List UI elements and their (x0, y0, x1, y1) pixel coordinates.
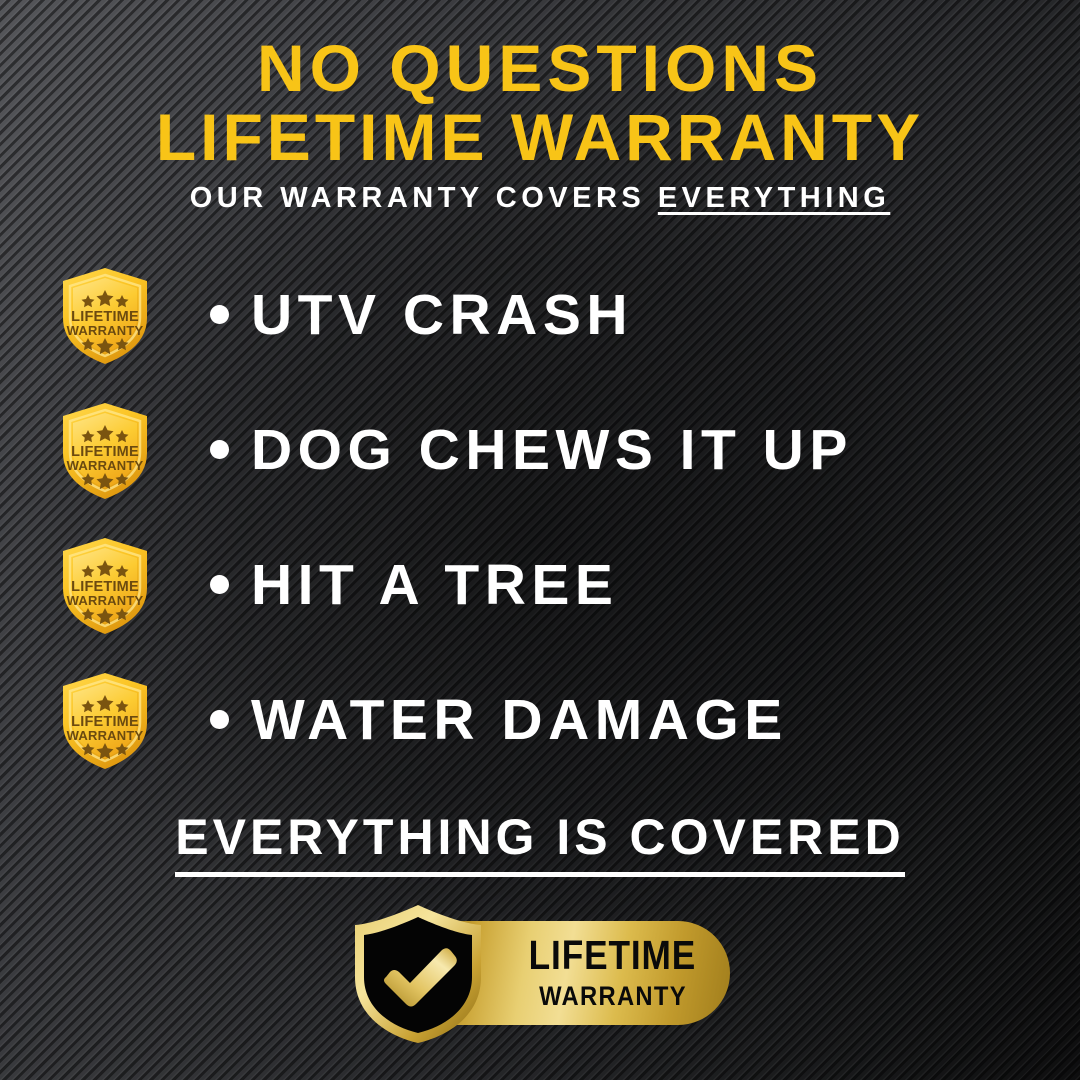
lifetime-warranty-shield-icon: LIFETIME WARRANTY (59, 536, 151, 636)
coverage-item-label: DOG CHEWS IT UP (251, 418, 853, 482)
coverage-item-text: HIT A TREE (210, 557, 618, 614)
badge-slot: LIFETIME WARRANTY (0, 671, 210, 771)
brand-logo: LIFETIME WARRANTY (0, 898, 1080, 1048)
badge-slot: LIFETIME WARRANTY (0, 401, 210, 501)
svg-text:WARRANTY: WARRANTY (67, 593, 144, 608)
list-item: LIFETIME WARRANTY WATER DAMAGE (0, 653, 1080, 788)
headline-line-2: LIFETIME WARRANTY (0, 103, 1080, 172)
lifetime-warranty-shield-icon: LIFETIME WARRANTY (59, 671, 151, 771)
coverage-item-text: WATER DAMAGE (210, 692, 788, 749)
bullet-dot-icon (210, 575, 229, 594)
covered-banner: EVERYTHING IS COVERED (0, 808, 1080, 877)
list-item: LIFETIME WARRANTY DOG CHEWS IT UP (0, 383, 1080, 518)
headline-line-1: NO QUESTIONS (0, 34, 1080, 103)
subtitle-emphasis: EVERYTHING (658, 182, 890, 214)
warranty-poster: NO QUESTIONS LIFETIME WARRANTY OUR WARRA… (0, 0, 1080, 1080)
lifetime-warranty-shield-icon: LIFETIME WARRANTY (59, 401, 151, 501)
bullet-dot-icon (210, 305, 229, 324)
shield-check-icon (348, 901, 488, 1046)
svg-text:WARRANTY: WARRANTY (67, 323, 144, 338)
lifetime-warranty-shield-icon: LIFETIME WARRANTY (59, 266, 151, 366)
coverage-item-label: WATER DAMAGE (251, 688, 788, 752)
brand-logo-line-2: WARRANTY (539, 983, 687, 1010)
coverage-list: LIFETIME WARRANTY UTV CRASH (0, 248, 1080, 788)
svg-text:WARRANTY: WARRANTY (67, 728, 144, 743)
brand-logo-inner: LIFETIME WARRANTY (340, 901, 740, 1046)
bullet-dot-icon (210, 440, 229, 459)
poster-content: NO QUESTIONS LIFETIME WARRANTY OUR WARRA… (0, 0, 1080, 1080)
covered-banner-text: EVERYTHING IS COVERED (175, 808, 904, 877)
badge-slot: LIFETIME WARRANTY (0, 536, 210, 636)
badge-slot: LIFETIME WARRANTY (0, 266, 210, 366)
coverage-item-text: UTV CRASH (210, 287, 633, 344)
list-item: LIFETIME WARRANTY UTV CRASH (0, 248, 1080, 383)
list-item: LIFETIME WARRANTY HIT A TREE (0, 518, 1080, 653)
subtitle: OUR WARRANTY COVERS EVERYTHING (0, 182, 1080, 215)
brand-logo-line-1: LIFETIME (529, 935, 696, 976)
subtitle-prefix: OUR WARRANTY COVERS (190, 182, 658, 214)
svg-text:WARRANTY: WARRANTY (67, 458, 144, 473)
coverage-item-label: HIT A TREE (251, 553, 618, 617)
page-title: NO QUESTIONS LIFETIME WARRANTY (0, 34, 1080, 171)
bullet-dot-icon (210, 710, 229, 729)
coverage-item-text: DOG CHEWS IT UP (210, 422, 853, 479)
coverage-item-label: UTV CRASH (251, 283, 633, 347)
